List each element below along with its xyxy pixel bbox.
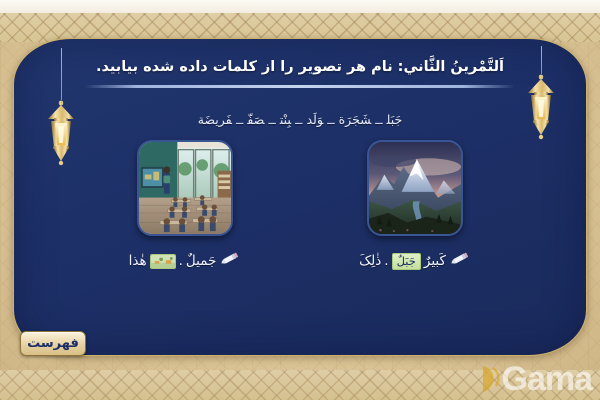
word-bank-word[interactable]: فَریضَة — [197, 112, 233, 127]
exercise-item-mountain: كَبیرٌ جَبَلٌ . ذٰلِکَ — [340, 140, 490, 272]
word-bank-separator: ــ — [233, 112, 246, 127]
sentence-punctuation: . — [179, 253, 183, 269]
word-bank-separator: ــ — [372, 112, 385, 127]
word-bank-word[interactable]: شَجَرَة — [338, 112, 373, 127]
pencil-icon — [219, 250, 241, 272]
word-bank-separator: ــ — [324, 112, 337, 127]
title-underline-rule — [85, 85, 515, 88]
watermark: Gama — [479, 364, 593, 394]
word-bank-separator: ــ — [292, 112, 305, 127]
lantern-icon — [524, 73, 558, 145]
word-bank-separator: ــ — [265, 112, 278, 127]
lantern-string — [61, 48, 62, 100]
gama-flag-icon — [479, 364, 501, 394]
lantern-right — [524, 46, 558, 149]
word-bank: جَبَلــشَجَرَةــوَلَدــبِنْتــصَفّــفَری… — [0, 112, 600, 127]
word-bank-word[interactable]: بِنْت — [279, 112, 292, 127]
word-bank-word[interactable]: وَلَد — [305, 112, 324, 127]
sentence-after: جَمیلٌ — [186, 253, 216, 269]
answer-line-classroom: جَمیلٌ . هٰذا — [110, 250, 260, 272]
slide-stage: اَلتَّمْرینُ الثَّاني: نام هر تصویر را ا… — [0, 0, 600, 400]
mountain-photo[interactable] — [367, 140, 463, 236]
exercise-title-block: اَلتَّمْرینُ الثَّاني: نام هر تصویر را ا… — [40, 57, 560, 88]
page-title: اَلتَّمْرینُ الثَّاني: نام هر تصویر را ا… — [40, 57, 560, 79]
exercise-item-classroom: جَمیلٌ . هٰذا — [110, 140, 260, 272]
exercise-items: كَبیرٌ جَبَلٌ . ذٰلِکَ — [110, 140, 490, 272]
sentence-punctuation: . — [384, 253, 388, 269]
answer-line-mountain: كَبیرٌ جَبَلٌ . ذٰلِکَ — [340, 250, 490, 272]
index-button[interactable]: فهرست — [20, 331, 86, 356]
classroom-photo[interactable] — [137, 140, 233, 236]
index-button-label: فهرست — [27, 336, 79, 351]
watermark-text: Gama — [502, 365, 593, 394]
word-bank-word[interactable]: جَبَل — [386, 112, 404, 127]
answer-blank-thumb[interactable] — [150, 254, 176, 269]
lantern-left — [44, 48, 78, 175]
word-bank-word[interactable]: صَفّ — [246, 112, 265, 127]
background-top-border-band — [0, 0, 600, 42]
pencil-icon — [449, 250, 471, 272]
sentence-before: هٰذا — [129, 253, 147, 269]
answer-blank-filled[interactable]: جَبَلٌ — [392, 253, 421, 270]
sentence-after: كَبیرٌ — [424, 253, 446, 269]
lantern-string — [541, 46, 542, 74]
lantern-icon — [44, 99, 78, 171]
sentence-before: ذٰلِکَ — [359, 253, 381, 269]
